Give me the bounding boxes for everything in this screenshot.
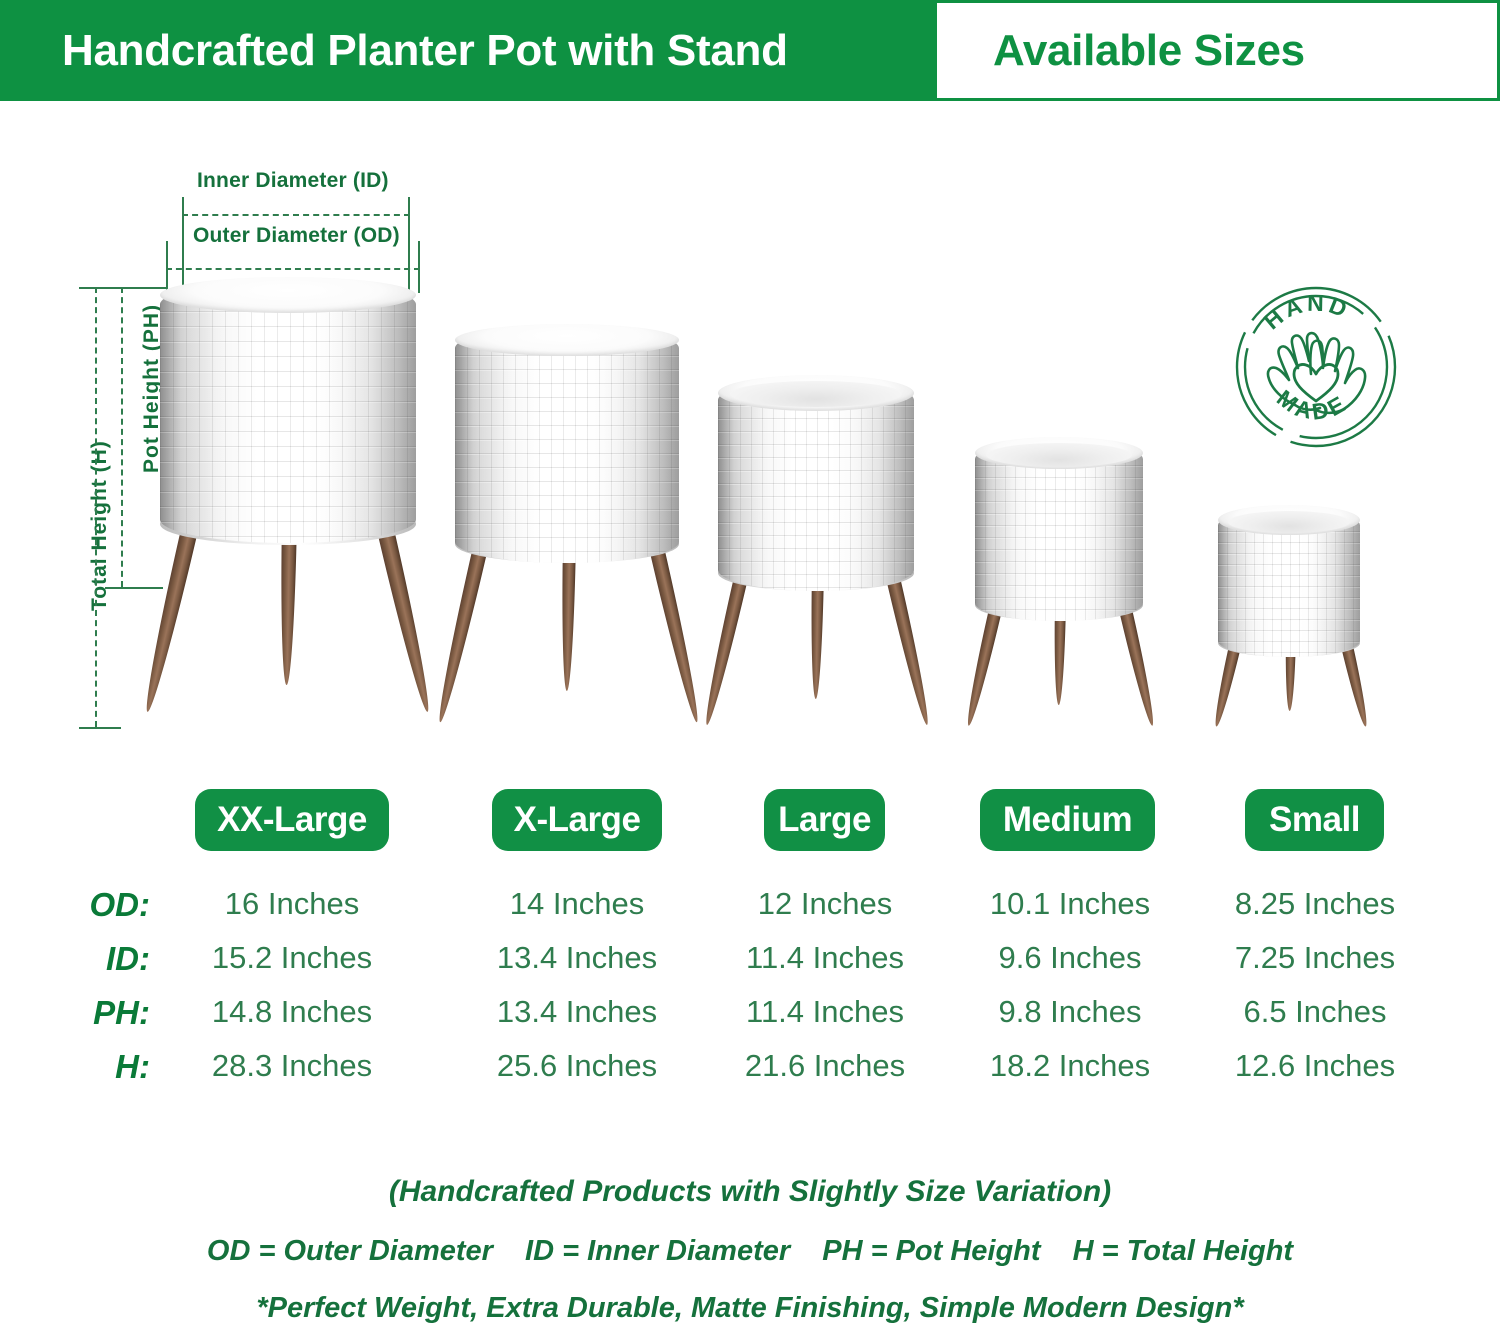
planter-leg — [374, 515, 436, 714]
page-title: Handcrafted Planter Pot with Stand — [0, 26, 788, 76]
planter-leg — [139, 515, 201, 714]
cell-id-large: 11.4 Inches — [718, 940, 932, 976]
planter-pot — [1218, 509, 1360, 657]
size-badge-large[interactable]: Large — [764, 789, 885, 851]
od-dimension-line — [166, 268, 420, 270]
product-illustration-area: HAND MADE Inner Diameter (ID) Outer Diam… — [0, 101, 1500, 761]
inner-diameter-label: Inner Diameter (ID) — [197, 169, 389, 193]
legend-ph: PH = Pot Height — [822, 1235, 1040, 1267]
size-badges-row: XX-Large X-Large Large Medium Small — [0, 789, 1500, 861]
h-bottom-cap — [79, 727, 121, 729]
h-dimension-line — [95, 287, 97, 727]
cell-id-xx-large: 15.2 Inches — [195, 940, 389, 976]
cell-h-xx-large: 28.3 Inches — [195, 1048, 389, 1084]
planter-leg — [433, 537, 490, 724]
cell-id-x-large: 13.4 Inches — [470, 940, 684, 976]
id-extension-left — [182, 197, 184, 293]
cell-od-large: 12 Inches — [718, 886, 932, 922]
table-row: OD: 16 Inches 14 Inches 12 Inches 10.1 I… — [0, 886, 1500, 940]
pot-rim — [455, 324, 679, 356]
pot-shading — [160, 281, 416, 543]
svg-text:MADE: MADE — [1272, 385, 1352, 425]
size-badge-medium[interactable]: Medium — [980, 789, 1155, 851]
cell-od-x-large: 14 Inches — [470, 886, 684, 922]
planter-xx-large — [160, 281, 420, 727]
cell-h-small: 12.6 Inches — [1208, 1048, 1422, 1084]
legend-id: ID = Inner Diameter — [525, 1235, 790, 1267]
cell-h-medium: 18.2 Inches — [963, 1048, 1177, 1084]
pot-rim — [160, 277, 416, 313]
pot-interior — [730, 381, 902, 407]
cell-od-xx-large: 16 Inches — [195, 886, 389, 922]
size-badge-small[interactable]: Small — [1245, 789, 1384, 851]
ph-bottom-cap — [105, 587, 163, 589]
cell-od-small: 8.25 Inches — [1208, 886, 1422, 922]
table-row: PH: 14.8 Inches 13.4 Inches 11.4 Inches … — [0, 994, 1500, 1048]
available-sizes-title: Available Sizes — [937, 26, 1305, 76]
size-badge-xx-large[interactable]: XX-Large — [195, 789, 389, 851]
cell-ph-small: 6.5 Inches — [1208, 994, 1422, 1030]
cell-ph-large: 11.4 Inches — [718, 994, 932, 1030]
abbreviation-legend: OD = Outer Diameter ID = Inner Diameter … — [0, 1235, 1500, 1268]
header-bar: Handcrafted Planter Pot with Stand Avail… — [0, 0, 1500, 101]
planter-leg — [884, 567, 934, 726]
features-note: *Perfect Weight, Extra Durable, Matte Fi… — [0, 1292, 1500, 1325]
planter-pot — [455, 327, 679, 563]
header-title-band: Handcrafted Planter Pot with Stand — [0, 0, 937, 101]
pot-interior — [986, 443, 1132, 467]
handmade-badge-icon: HAND MADE — [1232, 283, 1400, 451]
h-top-cap — [79, 287, 121, 289]
id-dimension-line — [182, 214, 410, 216]
table-row: ID: 15.2 Inches 13.4 Inches 11.4 Inches … — [0, 940, 1500, 994]
infographic-page: Handcrafted Planter Pot with Stand Avail… — [0, 0, 1500, 1328]
specifications-table: OD: 16 Inches 14 Inches 12 Inches 10.1 I… — [0, 886, 1500, 1102]
header-subtitle-band: Available Sizes — [937, 0, 1500, 101]
cell-h-large: 21.6 Inches — [718, 1048, 932, 1084]
cell-h-x-large: 25.6 Inches — [470, 1048, 684, 1084]
row-label-ph: PH: — [0, 994, 150, 1032]
row-label-od: OD: — [0, 886, 150, 924]
outer-diameter-label: Outer Diameter (OD) — [193, 224, 400, 248]
planter-pot — [975, 441, 1143, 621]
ph-dimension-line — [121, 287, 123, 587]
planter-leg — [700, 567, 750, 726]
pot-interior — [1228, 511, 1350, 533]
pot-shading — [455, 327, 679, 563]
planter-large — [718, 379, 918, 727]
planter-small — [1218, 509, 1364, 727]
variation-note: (Handcrafted Products with Slightly Size… — [0, 1175, 1500, 1209]
id-extension-right — [408, 197, 410, 293]
planter-pot — [160, 281, 416, 543]
planter-leg — [647, 537, 704, 724]
cell-ph-medium: 9.8 Inches — [963, 994, 1177, 1030]
cell-id-small: 7.25 Inches — [1208, 940, 1422, 976]
cell-id-medium: 9.6 Inches — [963, 940, 1177, 976]
cell-ph-x-large: 13.4 Inches — [470, 994, 684, 1030]
legend-od: OD = Outer Diameter — [207, 1235, 493, 1267]
cell-ph-xx-large: 14.8 Inches — [195, 994, 389, 1030]
legend-h: H = Total Height — [1073, 1235, 1293, 1267]
total-height-label: Total Height (H) — [88, 440, 112, 611]
size-badge-x-large[interactable]: X-Large — [492, 789, 662, 851]
row-label-h: H: — [0, 1048, 150, 1086]
table-row: H: 28.3 Inches 25.6 Inches 21.6 Inches 1… — [0, 1048, 1500, 1102]
planter-x-large — [455, 327, 683, 727]
cell-od-medium: 10.1 Inches — [963, 886, 1177, 922]
planter-pot — [718, 379, 914, 591]
planter-medium — [975, 441, 1147, 727]
row-label-id: ID: — [0, 940, 150, 978]
footer-notes: (Handcrafted Products with Slightly Size… — [0, 1175, 1500, 1325]
